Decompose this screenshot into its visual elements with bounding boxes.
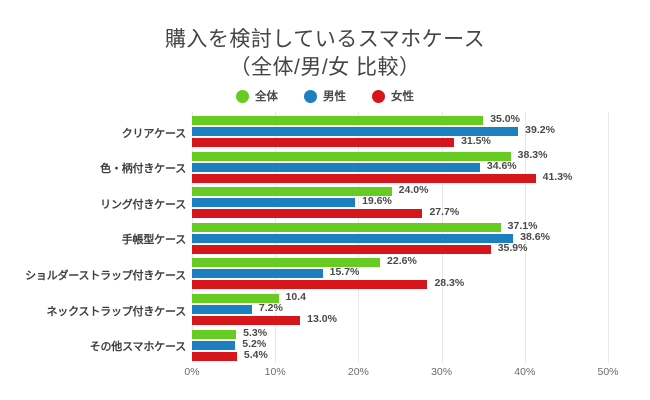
bar-group: 5.3%5.2%5.4%: [192, 330, 608, 363]
legend-item-female[interactable]: 女性: [372, 88, 414, 104]
bar-value-label: 27.7%: [429, 206, 459, 218]
bar-row: 27.7%: [192, 209, 608, 218]
bar-男性[interactable]: [192, 198, 355, 207]
value-axis-tick-label: 10%: [265, 366, 286, 378]
bar-value-label: 41.3%: [543, 171, 573, 183]
bar-row: 38.3%: [192, 152, 608, 161]
bar-女性[interactable]: [192, 138, 454, 147]
chart-title: 購入を検討しているスマホケース （全体/男/女 比較）: [0, 26, 650, 82]
bar-row: 41.3%: [192, 174, 608, 183]
bar-value-label: 34.6%: [487, 160, 517, 172]
bar-value-label: 38.3%: [518, 149, 548, 161]
bar-value-label: 5.4%: [244, 349, 268, 361]
category-label: リング付きケース: [0, 196, 186, 212]
bar-男性[interactable]: [192, 234, 513, 243]
bar-row: 24.0%: [192, 187, 608, 196]
legend-label-male: 男性: [323, 88, 346, 104]
value-axis-tick-label: 30%: [431, 366, 452, 378]
circle-marker-icon-male: [304, 90, 317, 103]
category-label: ネックストラップ付きケース: [0, 303, 186, 319]
bar-value-label: 19.6%: [362, 195, 392, 207]
category-axis-labels: クリアケース色・柄付きケースリング付きケース手帳型ケースショルダーストラップ付き…: [0, 112, 186, 363]
bar-row: 35.9%: [192, 245, 608, 254]
bar-value-label: 7.2%: [259, 302, 283, 314]
bar-group: 22.6%15.7%28.3%: [192, 258, 608, 291]
bar-group: 37.1%38.6%35.9%: [192, 223, 608, 256]
category-label: 手帳型ケース: [0, 231, 186, 247]
category-label: ショルダーストラップ付きケース: [0, 267, 186, 283]
bar-女性[interactable]: [192, 245, 491, 254]
bar-value-label: 13.0%: [307, 313, 337, 325]
chart-legend: 全体 男性 女性: [0, 88, 650, 104]
bar-group: 35.0%39.2%31.5%: [192, 116, 608, 149]
bar-value-label: 24.0%: [399, 184, 429, 196]
legend-item-male[interactable]: 男性: [304, 88, 346, 104]
plot-area: 35.0%39.2%31.5%38.3%34.6%41.3%24.0%19.6%…: [192, 112, 608, 363]
bar-value-label: 31.5%: [461, 135, 491, 147]
value-axis-tick-label: 50%: [597, 366, 618, 378]
legend-item-total[interactable]: 全体: [236, 88, 278, 104]
chart-container: 購入を検討しているスマホケース （全体/男/女 比較） 全体 男性 女性 クリア…: [0, 0, 650, 400]
value-axis-tick-label: 20%: [348, 366, 369, 378]
bar-row: 28.3%: [192, 280, 608, 289]
bar-row: 31.5%: [192, 138, 608, 147]
bar-value-label: 10.4: [286, 291, 306, 303]
chart-title-line-1: 購入を検討しているスマホケース: [0, 26, 650, 54]
bar-女性[interactable]: [192, 209, 422, 218]
bar-row: 39.2%: [192, 127, 608, 136]
bar-row: 38.6%: [192, 234, 608, 243]
bar-男性[interactable]: [192, 163, 480, 172]
bar-女性[interactable]: [192, 280, 427, 289]
bar-全体[interactable]: [192, 152, 511, 161]
bar-row: 15.7%: [192, 269, 608, 278]
value-axis-ticks: 0%10%20%30%40%50%: [192, 366, 608, 384]
bar-女性[interactable]: [192, 352, 237, 361]
category-label: 色・柄付きケース: [0, 160, 186, 176]
bar-row: 10.4: [192, 294, 608, 303]
bar-row: 19.6%: [192, 198, 608, 207]
category-label: その他スマホケース: [0, 338, 186, 354]
bar-value-label: 35.0%: [490, 113, 520, 125]
bar-男性[interactable]: [192, 341, 235, 350]
bar-全体[interactable]: [192, 330, 236, 339]
bar-group: 38.3%34.6%41.3%: [192, 152, 608, 185]
value-axis-tick-label: 0%: [184, 366, 199, 378]
bar-value-label: 22.6%: [387, 255, 417, 267]
legend-label-female: 女性: [391, 88, 414, 104]
bar-row: 7.2%: [192, 305, 608, 314]
bar-女性[interactable]: [192, 316, 300, 325]
bar-value-label: 15.7%: [330, 266, 360, 278]
bar-group: 24.0%19.6%27.7%: [192, 187, 608, 220]
bar-男性[interactable]: [192, 269, 323, 278]
legend-label-total: 全体: [255, 88, 278, 104]
value-axis-tick-label: 40%: [514, 366, 535, 378]
bar-row: 22.6%: [192, 258, 608, 267]
bar-value-label: 39.2%: [525, 124, 555, 136]
bar-group: 10.47.2%13.0%: [192, 294, 608, 327]
bar-全体[interactable]: [192, 223, 501, 232]
circle-marker-icon-total: [236, 90, 249, 103]
chart-title-line-2: （全体/男/女 比較）: [0, 54, 650, 82]
bar-value-label: 35.9%: [498, 242, 528, 254]
bar-女性[interactable]: [192, 174, 536, 183]
circle-marker-icon-female: [372, 90, 385, 103]
bar-row: 13.0%: [192, 316, 608, 325]
bar-全体[interactable]: [192, 116, 483, 125]
bar-男性[interactable]: [192, 305, 252, 314]
category-label: クリアケース: [0, 125, 186, 141]
gridline: [608, 112, 609, 363]
bar-row: 5.4%: [192, 352, 608, 361]
bar-value-label: 28.3%: [434, 277, 464, 289]
